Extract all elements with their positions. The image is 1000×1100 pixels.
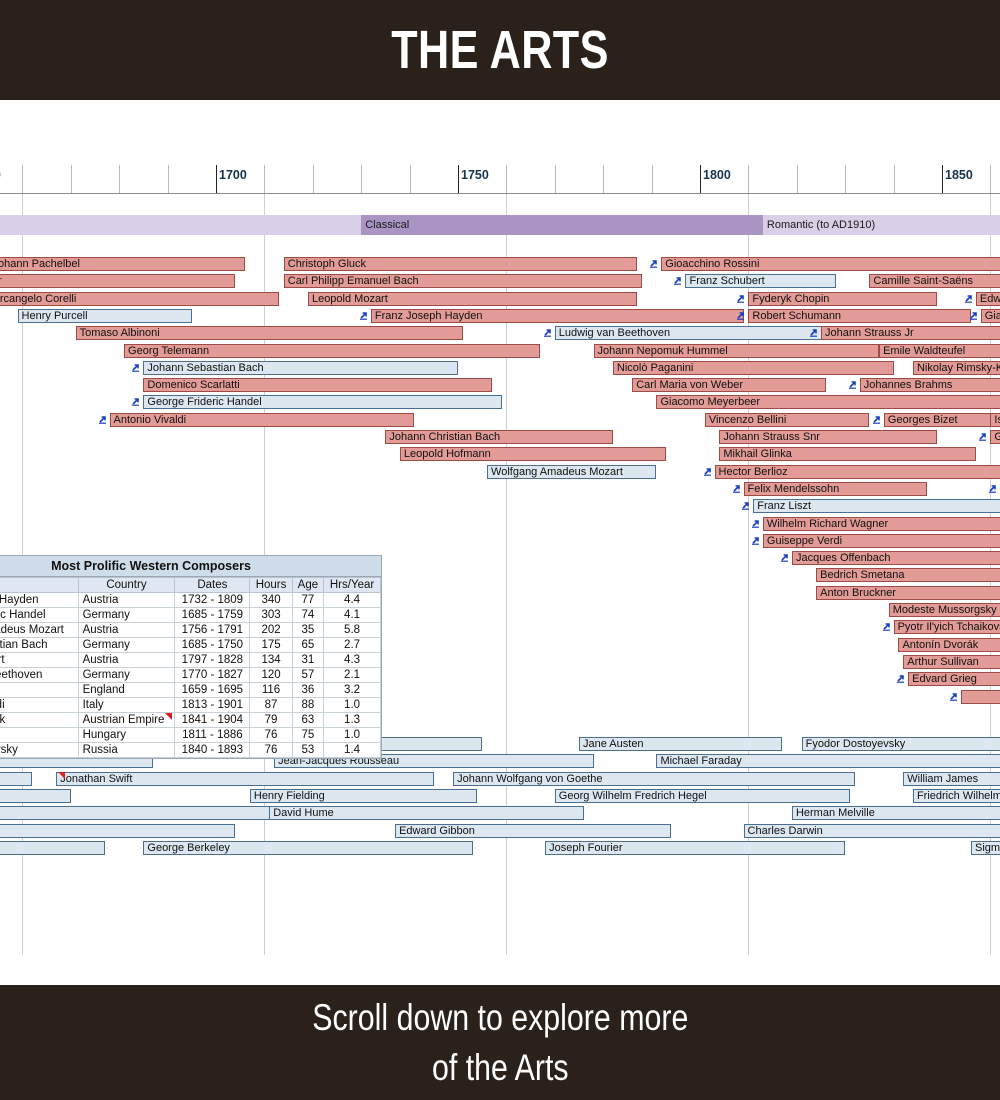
table-cell: Austria <box>78 593 175 608</box>
table-cell: 76 <box>250 743 292 758</box>
table-cell: Franz Schubert <box>0 653 78 668</box>
timeline-bar[interactable]: Johann Nepomuk Hummel <box>594 344 880 358</box>
table-cell: 1.4 <box>324 743 381 758</box>
external-link-icon[interactable] <box>649 259 660 270</box>
table-cell: 2.7 <box>324 638 381 653</box>
external-link-icon[interactable] <box>131 397 142 408</box>
timeline-bar[interactable]: Joseph Fourier <box>545 841 845 855</box>
external-link-icon[interactable] <box>969 311 980 322</box>
external-link-icon[interactable] <box>751 536 762 547</box>
table-cell: 116 <box>250 683 292 698</box>
external-link-icon[interactable] <box>809 328 820 339</box>
table-row[interactable]: Henry PurcellEngland1659 - 1695116363.2 <box>0 683 381 698</box>
table-cell: Russia <box>78 743 175 758</box>
table-cell: 1.0 <box>324 728 381 743</box>
timeline-bar[interactable]: Felix Mendelssohn <box>744 482 928 496</box>
table-column-header: Country <box>78 578 175 593</box>
timeline-bar[interactable]: Tomaso Albinoni <box>76 326 463 340</box>
table-column-header: Hrs/Year <box>324 578 381 593</box>
table-row[interactable]: Wolfgang Amadeus MozartAustria1756 - 179… <box>0 623 381 638</box>
axis-tick-minor <box>410 165 411 193</box>
axis-tick-minor <box>119 165 120 193</box>
axis-tick-minor <box>894 165 895 193</box>
table-cell: 79 <box>250 713 292 728</box>
timeline-bar[interactable]: Carl Philipp Emanuel Bach <box>284 274 642 288</box>
timeline-bar[interactable]: Camille Saint-Saëns <box>869 274 1000 288</box>
axis-tick-minor <box>603 165 604 193</box>
external-link-icon[interactable] <box>736 311 747 322</box>
timeline-bar[interactable]: Henry Purcell <box>18 309 192 323</box>
external-link-icon[interactable] <box>98 415 109 426</box>
external-link-icon[interactable] <box>949 692 960 703</box>
timeline-bar[interactable]: Wilhelm Richard Wagner <box>763 517 1000 531</box>
timeline-bar[interactable]: Charpentier <box>0 274 235 288</box>
timeline-bar[interactable]: George Berkeley <box>143 841 472 855</box>
timeline-bar[interactable]: Domenico Scarlatti <box>143 378 491 392</box>
table-cell: 1811 - 1886 <box>175 728 250 743</box>
table-cell: 88 <box>292 698 323 713</box>
table-row[interactable]: Antonín DvorákAustrian Empire1841 - 1904… <box>0 713 381 728</box>
bottom-banner: Scroll down to explore more of the Arts <box>0 985 1000 1100</box>
timeline-bar[interactable]: George Frideric Handel <box>143 395 501 409</box>
table-cell: Austrian Empire <box>78 713 175 728</box>
prolific-composers-table: Most Prolific Western Composers CountryD… <box>0 555 382 759</box>
external-link-icon[interactable] <box>848 380 859 391</box>
axis-tick-minor <box>71 165 72 193</box>
table-row[interactable]: Franz Joseph HaydenAustria1732 - 1809340… <box>0 593 381 608</box>
timeline-bar[interactable]: Jane Austen <box>579 737 782 751</box>
timeline-bar[interactable]: Arthur Sullivan <box>903 655 1000 669</box>
timeline-bar[interactable]: Sigmund Freud <box>971 841 1000 855</box>
table-row[interactable]: Ludwig van BeethovenGermany1770 - 182712… <box>0 668 381 683</box>
table-cell: 36 <box>292 683 323 698</box>
external-link-icon[interactable] <box>131 363 142 374</box>
timeline-bar[interactable]: Emile Waldteufel <box>879 344 1000 358</box>
timeline-bar[interactable]: William James <box>903 772 1000 786</box>
table-cell: 4.1 <box>324 608 381 623</box>
timeline-bar[interactable]: Robert Schumann <box>748 309 971 323</box>
timeline-bar[interactable]: Gustav Mahler <box>990 430 1000 444</box>
table-row[interactable]: George Frideric HandelGermany1685 - 1759… <box>0 608 381 623</box>
table-cell: Germany <box>78 608 175 623</box>
table-cell: Italy <box>78 698 175 713</box>
timeline-bar[interactable]: Johann Pachelbel <box>0 257 245 271</box>
table-cell: 1.0 <box>324 698 381 713</box>
timeline-bar[interactable] <box>961 690 1000 704</box>
era-band-segment: Romantic (to AD1910) <box>763 215 1000 235</box>
timeline-bar[interactable] <box>0 789 71 803</box>
table-cell: 1659 - 1695 <box>175 683 250 698</box>
table-cell: Ludwig van Beethoven <box>0 668 78 683</box>
table-cell: 1732 - 1809 <box>175 593 250 608</box>
page-title: THE ARTS <box>391 23 609 77</box>
axis-tick-minor <box>845 165 846 193</box>
timeline-bar[interactable]: Charles Darwin <box>744 824 1000 838</box>
axis-tick-minor <box>652 165 653 193</box>
timeline-bar[interactable]: Isaac Albéniz <box>990 413 1000 427</box>
table-cell: 4.4 <box>324 593 381 608</box>
table-cell: 77 <box>292 593 323 608</box>
table-cell: 31 <box>292 653 323 668</box>
table-cell: Austria <box>78 623 175 638</box>
timeline-bar[interactable]: Modeste Mussorgsky <box>889 603 1000 617</box>
table-row[interactable]: Johann Sebastian BachGermany1685 - 17501… <box>0 638 381 653</box>
timeline-bar[interactable]: Leopold Mozart <box>308 292 637 306</box>
table-cell: 75 <box>292 728 323 743</box>
external-link-icon[interactable] <box>872 415 883 426</box>
timeline-bar[interactable]: Georg Wilhelm Fredrich Hegel <box>555 789 850 803</box>
top-banner: THE ARTS <box>0 0 1000 100</box>
timeline-bar[interactable]: Giacomo Puccini <box>981 309 1000 323</box>
timeline-bar[interactable] <box>0 772 32 786</box>
gridline <box>506 193 507 955</box>
timeline-bar[interactable]: Johann Christian Bach <box>385 430 612 444</box>
table-cell: 65 <box>292 638 323 653</box>
timeline-bar[interactable]: Franz Joseph Hayden <box>371 309 744 323</box>
table-cell: 1770 - 1827 <box>175 668 250 683</box>
timeline-bar[interactable]: David Hume <box>269 806 584 820</box>
timeline-bar[interactable]: Fyderyk Chopin <box>748 292 937 306</box>
table-cell: 3.2 <box>324 683 381 698</box>
axis-tick-label: 1650 <box>0 168 1 182</box>
timeline-bar[interactable]: Pyotr Il'yich Tchaikovsky <box>894 620 1000 634</box>
table-cell: George Frideric Handel <box>0 608 78 623</box>
table-cell: 120 <box>250 668 292 683</box>
axis-tick-minor <box>506 165 507 193</box>
axis-tick-label: 1700 <box>216 168 247 182</box>
table-cell: 1813 - 1901 <box>175 698 250 713</box>
axis-tick-minor <box>555 165 556 193</box>
external-link-icon[interactable] <box>978 432 989 443</box>
table-cell: Guiseppe Verdi <box>0 698 78 713</box>
table-cell: 1685 - 1750 <box>175 638 250 653</box>
timeline-bar[interactable]: Giacomo Meyerbeer <box>656 395 1000 409</box>
table-cell: Hungary <box>78 728 175 743</box>
timeline-bar[interactable]: Christoph Gluck <box>284 257 637 271</box>
timeline-bar[interactable]: Bedrich Smetana <box>816 568 1000 582</box>
timeline-bar[interactable]: Nikolay Rimsky-Korsakov <box>913 361 1000 375</box>
table-cell: 35 <box>292 623 323 638</box>
scroll-hint-line-1: Scroll down to explore more <box>312 993 688 1043</box>
table-column-header <box>0 578 78 593</box>
timeline-bar[interactable]: Wolfgang Amadeus Mozart <box>487 465 656 479</box>
table-cell: 1685 - 1759 <box>175 608 250 623</box>
axis-tick-minor <box>797 165 798 193</box>
table-cell: 1.3 <box>324 713 381 728</box>
timeline-bar[interactable]: Edward Elgar <box>976 292 1000 306</box>
table-cell: 2.1 <box>324 668 381 683</box>
table-row[interactable]: Franz SchubertAustria1797 - 1828134314.3 <box>0 653 381 668</box>
timeline-bar[interactable] <box>0 841 105 855</box>
timeline-bar[interactable]: Johann Strauss Snr <box>719 430 937 444</box>
table-column-header: Age <box>292 578 323 593</box>
timeline-bar[interactable]: Georges Bizet <box>884 413 1000 427</box>
timeline-bar[interactable]: Jonathan Swift <box>56 772 434 786</box>
axis-tick-label: 1850 <box>942 168 973 182</box>
timeline-bar[interactable]: Edvard Grieg <box>908 672 1000 686</box>
table-cell: 87 <box>250 698 292 713</box>
table-cell: Johann Sebastian Bach <box>0 638 78 653</box>
axis-tick-label: 1800 <box>700 168 731 182</box>
table-cell: 57 <box>292 668 323 683</box>
timeline-bar[interactable]: Georg Telemann <box>124 344 540 358</box>
table-cell: 76 <box>250 728 292 743</box>
scroll-hint-line-2: of the Arts <box>432 1043 569 1093</box>
external-link-icon[interactable] <box>359 311 370 322</box>
table-cell: 5.8 <box>324 623 381 638</box>
timeline-bar[interactable]: Henry Fielding <box>250 789 477 803</box>
table-header-row: CountryDatesHoursAgeHrs/Year <box>0 578 381 593</box>
table-cell: 4.3 <box>324 653 381 668</box>
timeline-bar[interactable] <box>0 824 235 838</box>
table-cell: 1756 - 1791 <box>175 623 250 638</box>
timeline-bar[interactable]: Johannes Brahms <box>860 378 1000 392</box>
table-cell: Pyotr Tchaikovsky <box>0 743 78 758</box>
timeline-bar[interactable]: Jacques Offenbach <box>792 551 1000 565</box>
table-column-header: Hours <box>250 578 292 593</box>
table-cell: 1797 - 1828 <box>175 653 250 668</box>
external-link-icon[interactable] <box>882 622 893 633</box>
timeline-bar[interactable]: Leopold Hofmann <box>400 447 666 461</box>
timeline-axis: 17001750180018501650 <box>0 165 1000 194</box>
table-cell: 134 <box>250 653 292 668</box>
timeline-bar[interactable]: Arcangelo Corelli <box>0 292 279 306</box>
table-cell: 1841 - 1904 <box>175 713 250 728</box>
timeline-bar[interactable]: Antonín Dvorák <box>898 638 1000 652</box>
timeline-bar[interactable]: Fyodor Dostoyevsky <box>802 737 1000 751</box>
table-cell: 1840 - 1893 <box>175 743 250 758</box>
external-link-icon[interactable] <box>732 484 743 495</box>
timeline-bar[interactable]: Herman Melville <box>792 806 1000 820</box>
table-cell: England <box>78 683 175 698</box>
external-link-icon[interactable] <box>751 519 762 530</box>
axis-tick-minor <box>748 165 749 193</box>
table-body: Franz Joseph HaydenAustria1732 - 1809340… <box>0 593 381 758</box>
table-cell: Henry Purcell <box>0 683 78 698</box>
timeline-bar[interactable]: Michael Faraday <box>656 754 1000 768</box>
table-row[interactable]: Pyotr TchaikovskyRussia1840 - 189376531.… <box>0 743 381 758</box>
timeline-bar[interactable]: Johann Wolfgang von Goethe <box>453 772 855 786</box>
comment-flag-icon <box>58 772 65 779</box>
external-link-icon[interactable] <box>780 553 791 564</box>
timeline-bar[interactable]: Friedrich Wilhelm Nietzsche <box>913 789 1000 803</box>
external-link-icon[interactable] <box>741 501 752 512</box>
axis-tick-minor <box>22 165 23 193</box>
era-band-segment: Classical <box>361 215 763 235</box>
timeline-bar[interactable]: Hector Berlioz <box>715 465 1000 479</box>
timeline-bar[interactable]: Franz Schubert <box>685 274 835 288</box>
table-cell: Antonín Dvorák <box>0 713 78 728</box>
table-cell: Germany <box>78 668 175 683</box>
table-cell: 202 <box>250 623 292 638</box>
table-cell: Germany <box>78 638 175 653</box>
axis-tick-minor <box>168 165 169 193</box>
external-link-icon[interactable] <box>703 467 714 478</box>
table-caption: Most Prolific Western Composers <box>0 556 381 577</box>
table-cell: Franz Liszt <box>0 728 78 743</box>
timeline-bar[interactable]: Mikhail Glinka <box>719 447 976 461</box>
timeline-chart: 17001750180018501650 ClassicalRomantic (… <box>0 100 1000 985</box>
external-link-icon[interactable] <box>988 484 999 495</box>
table-cell: 303 <box>250 608 292 623</box>
timeline-bar[interactable]: Edward Gibbon <box>395 824 671 838</box>
timeline-bar[interactable]: Franz Liszt <box>753 499 1000 513</box>
table-cell: Wolfgang Amadeus Mozart <box>0 623 78 638</box>
table-row[interactable]: Guiseppe VerdiItaly1813 - 190187881.0 <box>0 698 381 713</box>
axis-tick-minor <box>361 165 362 193</box>
comment-flag-icon <box>165 713 172 720</box>
axis-tick-minor <box>313 165 314 193</box>
timeline-bar[interactable]: Gioacchino Rossini <box>661 257 1000 271</box>
timeline-bar[interactable]: Carl Maria von Weber <box>632 378 826 392</box>
table-cell: Austria <box>78 653 175 668</box>
era-band-segment <box>0 215 361 235</box>
timeline-bar[interactable]: Ludwig van Beethoven <box>555 326 831 340</box>
external-link-icon[interactable] <box>896 674 907 685</box>
table-cell: 340 <box>250 593 292 608</box>
table-cell: 63 <box>292 713 323 728</box>
axis-tick-minor <box>990 165 991 193</box>
table-cell: 74 <box>292 608 323 623</box>
timeline-bar[interactable]: Anton Bruckner <box>816 586 1000 600</box>
axis-tick-minor <box>264 165 265 193</box>
table-column-header: Dates <box>175 578 250 593</box>
external-link-icon[interactable] <box>543 328 554 339</box>
table-cell: 53 <box>292 743 323 758</box>
timeline-bar[interactable]: Antonio Vivaldi <box>110 413 415 427</box>
timeline-bar[interactable]: Nicolò Paganini <box>613 361 894 375</box>
table: Most Prolific Western Composers CountryD… <box>0 556 381 758</box>
external-link-icon[interactable] <box>964 294 975 305</box>
timeline-bar[interactable]: Guiseppe Verdi <box>763 534 1000 548</box>
external-link-icon[interactable] <box>736 294 747 305</box>
timeline-bar[interactable]: Johann Sebastian Bach <box>143 361 458 375</box>
table-row[interactable]: Franz LisztHungary1811 - 188676751.0 <box>0 728 381 743</box>
table-cell: Franz Joseph Hayden <box>0 593 78 608</box>
timeline-bar[interactable]: Johann Strauss Jr <box>821 326 1000 340</box>
external-link-icon[interactable] <box>673 276 684 287</box>
timeline-bar[interactable]: Vincenzo Bellini <box>705 413 870 427</box>
table-cell: 175 <box>250 638 292 653</box>
axis-tick-label: 1750 <box>458 168 489 182</box>
